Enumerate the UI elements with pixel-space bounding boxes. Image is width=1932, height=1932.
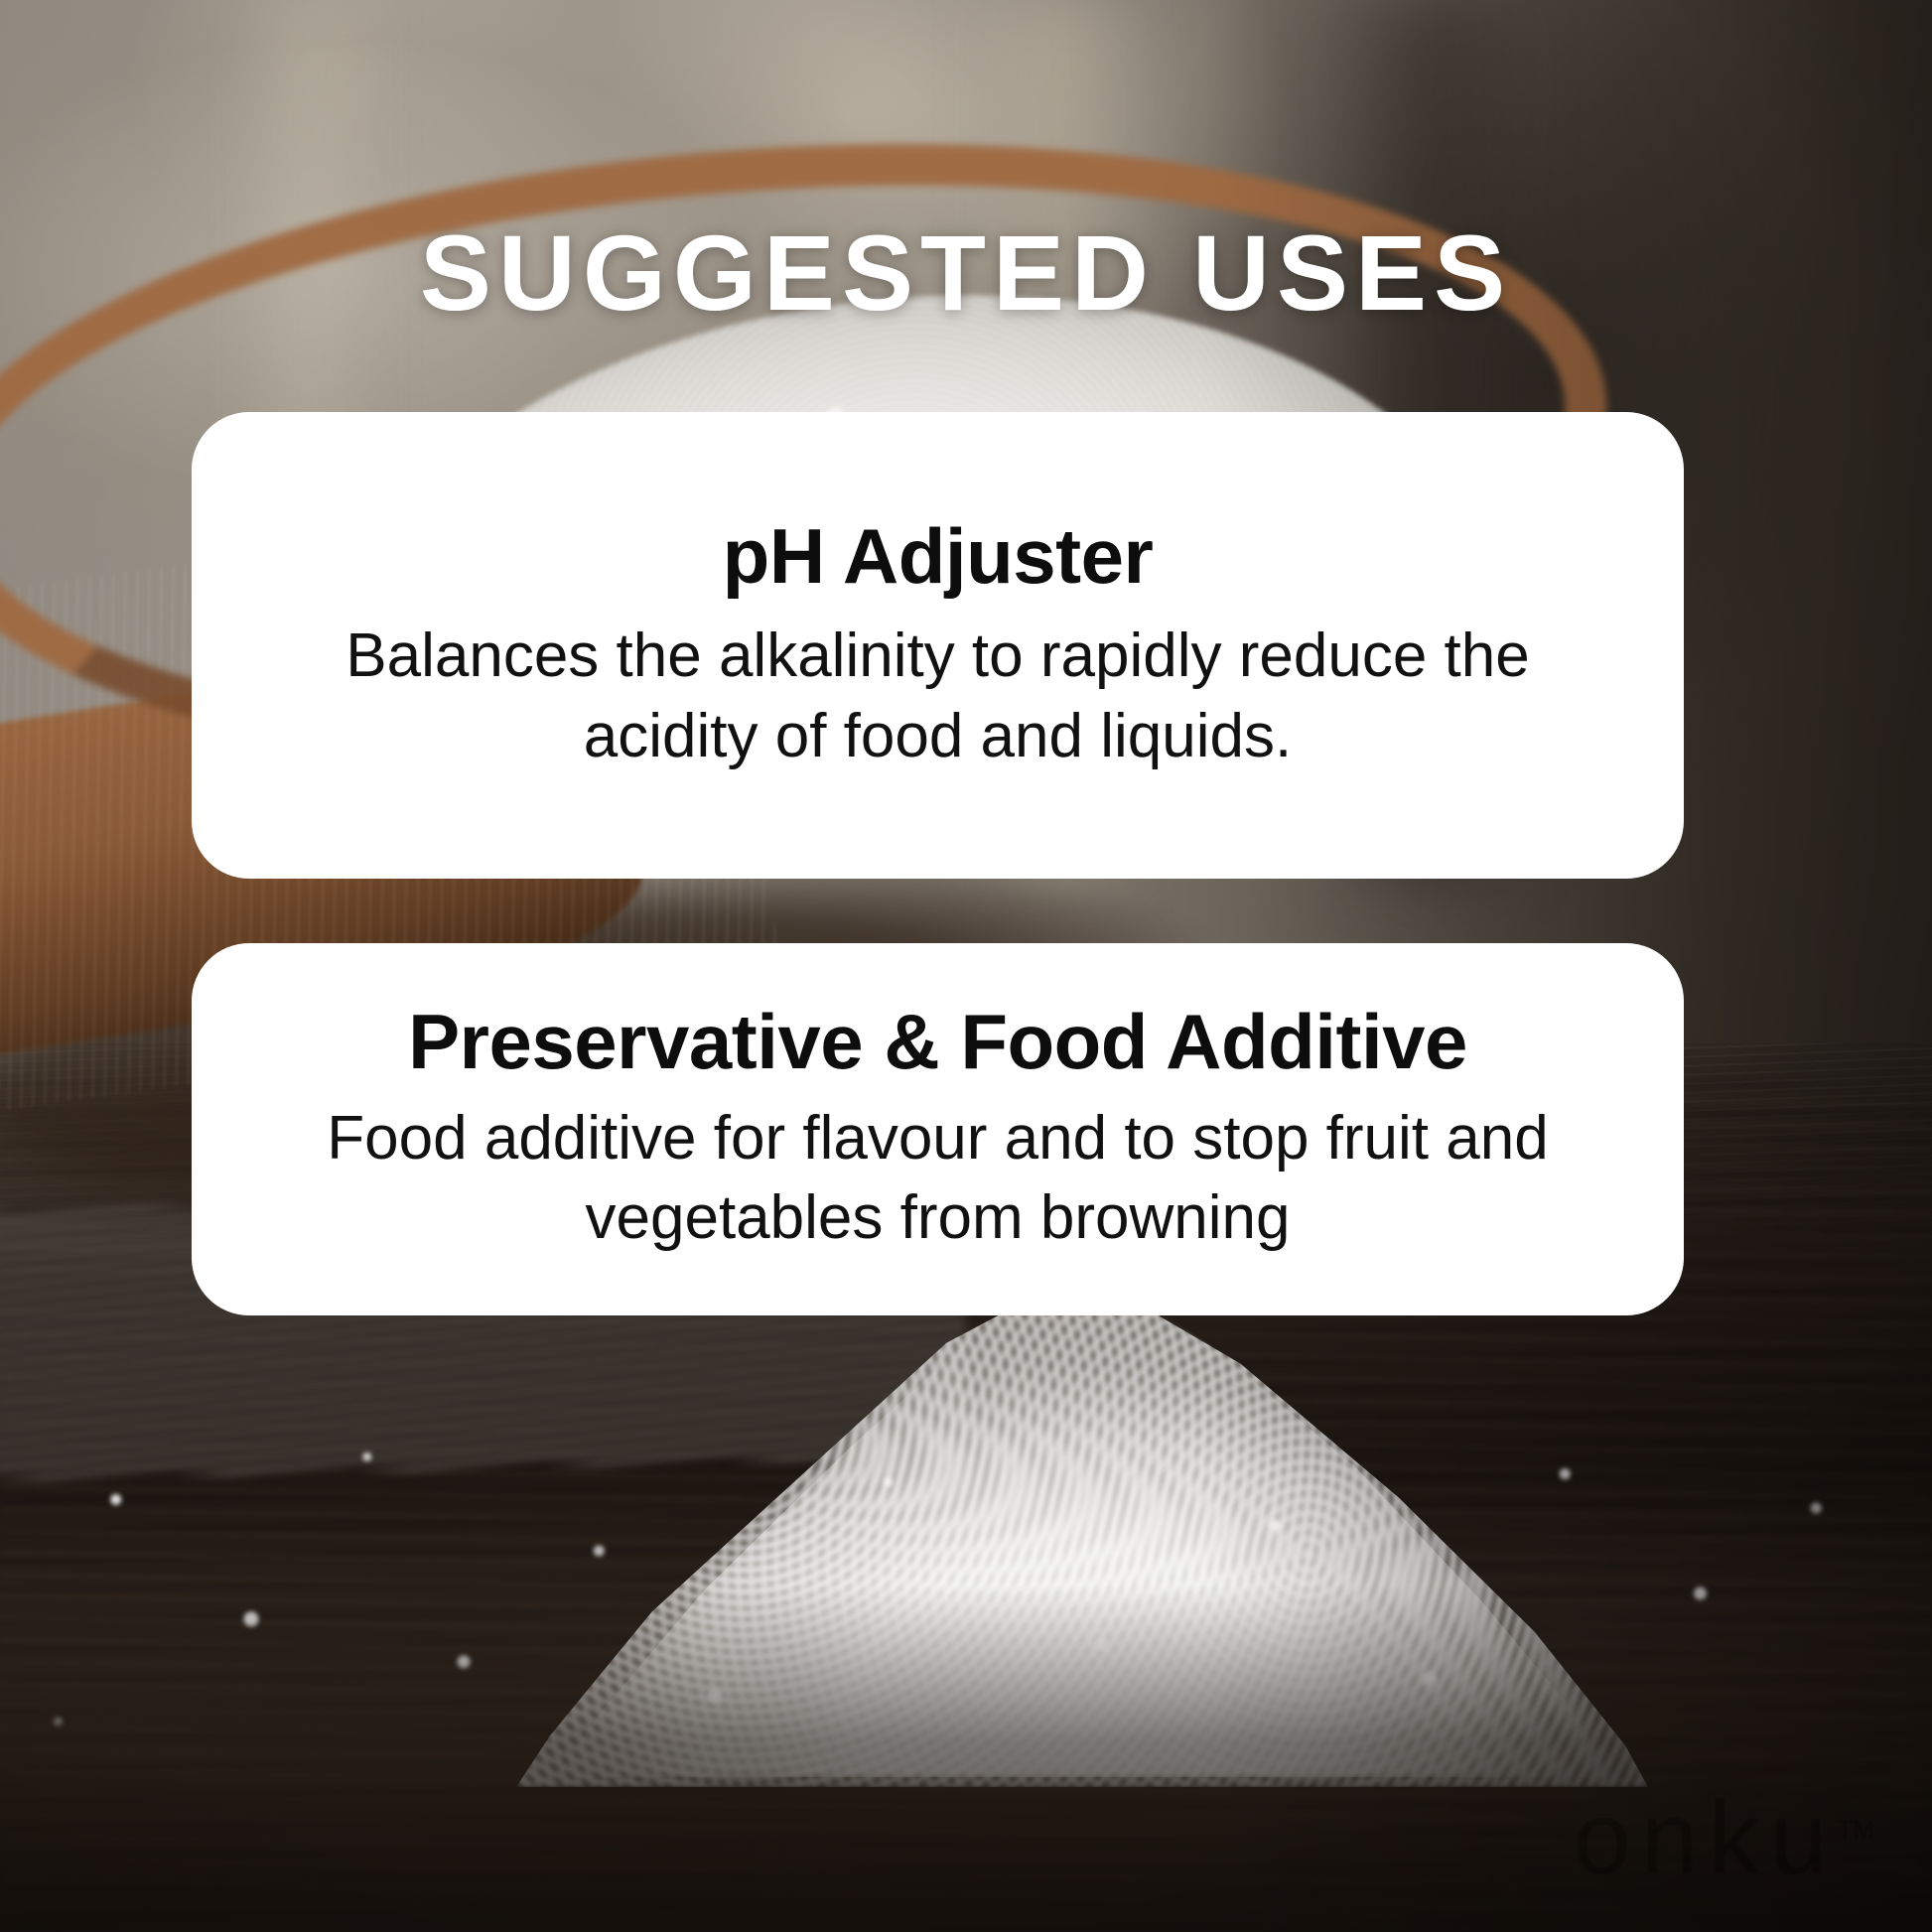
card-description: Balances the alkalinity to rapidly reduc… [298, 617, 1579, 776]
card-title: Preservative & Food Additive [408, 1000, 1467, 1085]
suggested-use-card-preservative: Preservative & Food Additive Food additi… [192, 943, 1684, 1315]
watermark-trademark-symbol: TM [1837, 1814, 1874, 1844]
page-title: SUGGESTED USES [0, 216, 1932, 329]
card-description: Food additive for flavour and to stop fr… [298, 1099, 1579, 1259]
poster-canvas: SUGGESTED USES pH Adjuster Balances the … [0, 0, 1932, 1932]
card-title: pH Adjuster [723, 514, 1154, 600]
poster-content: SUGGESTED USES pH Adjuster Balances the … [0, 0, 1932, 1932]
brand-watermark: onkuTM [1574, 1787, 1874, 1890]
suggested-use-card-ph-adjuster: pH Adjuster Balances the alkalinity to r… [192, 412, 1684, 879]
watermark-brand-text: onku [1574, 1781, 1838, 1896]
